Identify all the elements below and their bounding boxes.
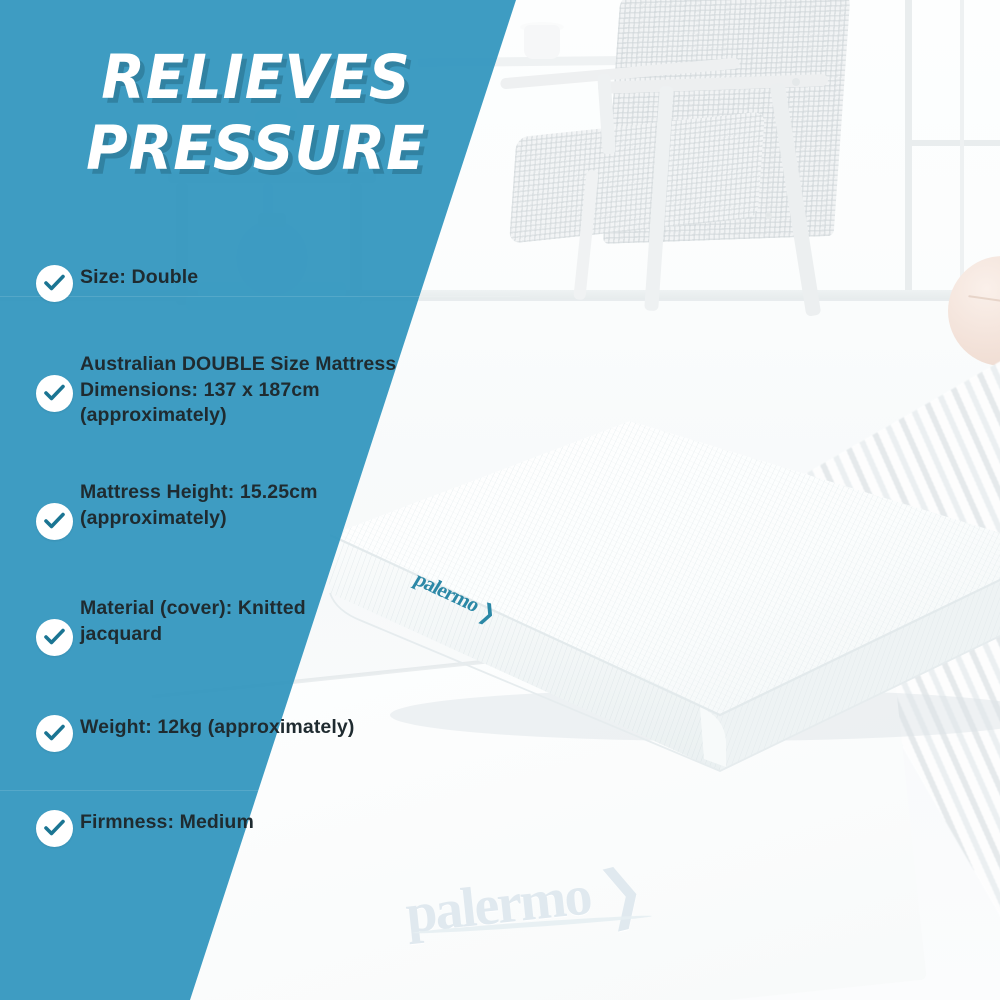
feature-label: Mattress Height: 15.25cm (approximately) bbox=[80, 480, 360, 531]
check-circle-icon bbox=[36, 265, 73, 302]
feature-label: Weight: 12kg (approximately) bbox=[80, 715, 354, 741]
armchair-frame-knob-upper bbox=[792, 78, 800, 86]
check-circle-icon bbox=[36, 375, 73, 412]
armchair bbox=[560, 0, 980, 360]
feature-item-size: Size: Double bbox=[36, 265, 198, 302]
feature-item-height: Mattress Height: 15.25cm (approximately) bbox=[36, 480, 360, 540]
check-circle-icon bbox=[36, 503, 73, 540]
check-circle-icon bbox=[36, 619, 73, 656]
product-marketing-image: palermo❭ bbox=[0, 0, 1000, 1000]
check-circle-icon bbox=[36, 715, 73, 752]
feature-item-material: Material (cover): Knitted jacquard bbox=[36, 596, 348, 656]
feature-list: Size: Double Australian DOUBLE Size Matt… bbox=[0, 0, 520, 1000]
check-circle-icon bbox=[36, 810, 73, 847]
armchair-frame-knob-lower bbox=[765, 212, 772, 219]
feature-item-weight: Weight: 12kg (approximately) bbox=[36, 715, 354, 752]
feature-item-firmness: Firmness: Medium bbox=[36, 810, 254, 847]
feature-item-dimensions: Australian DOUBLE Size Mattress Dimensio… bbox=[36, 352, 432, 429]
feature-label: Size: Double bbox=[80, 265, 198, 291]
cup bbox=[524, 25, 560, 59]
feature-label: Firmness: Medium bbox=[80, 810, 254, 836]
feature-label: Material (cover): Knitted jacquard bbox=[80, 596, 348, 647]
feature-label: Australian DOUBLE Size Mattress Dimensio… bbox=[80, 352, 432, 429]
